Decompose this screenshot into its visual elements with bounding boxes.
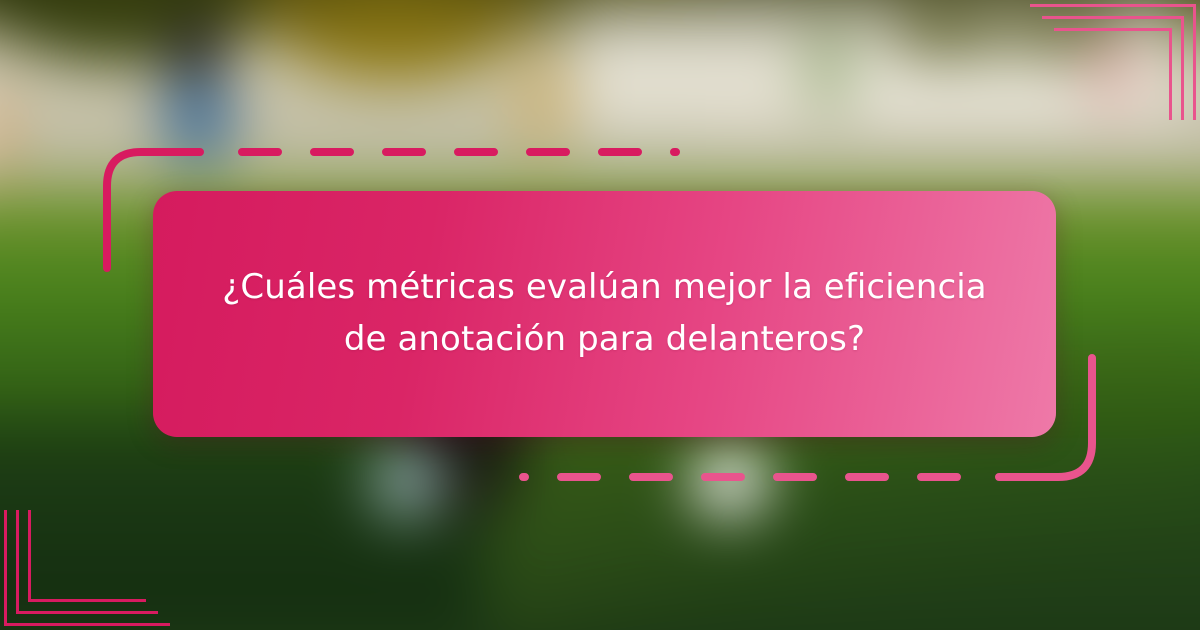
question-card: ¿Cuáles métricas evalúan mejor la eficie… <box>153 191 1056 437</box>
question-text: ¿Cuáles métricas evalúan mejor la eficie… <box>215 262 995 365</box>
question-card-graphic: ¿Cuáles métricas evalúan mejor la eficie… <box>0 0 1200 630</box>
